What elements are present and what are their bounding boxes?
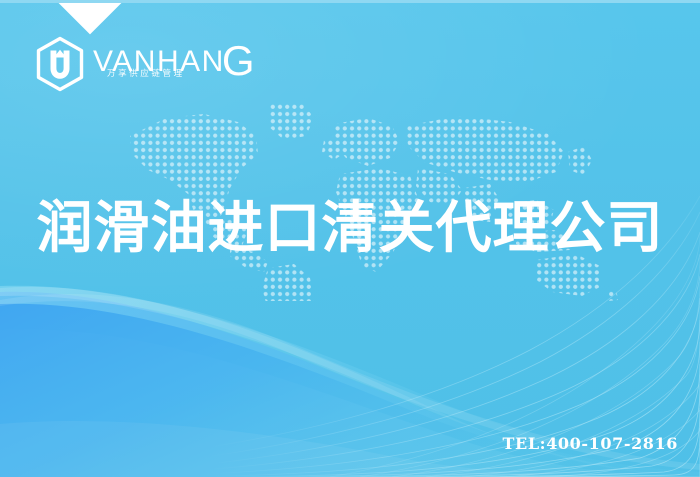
logo-lockup[interactable]: VANHANG 万享供应链管理 [33,36,257,92]
promo-banner: VANHANG 万享供应链管理 润滑油进口清关代理公司 TEL:400-107-… [0,0,700,477]
logo-chinese-subtitle: 万享供应链管理 [107,67,185,79]
hexagon-u-mark-icon [33,36,87,92]
logo-text-block: VANHANG 万享供应链管理 [93,40,257,88]
corner-wedge [48,0,133,34]
page-title: 润滑油进口清关代理公司 [0,196,700,262]
top-edge-strip [0,0,700,3]
contact-phone: TEL:400-107-2816 [503,434,678,453]
logo-wordmark-g: G [222,37,255,84]
